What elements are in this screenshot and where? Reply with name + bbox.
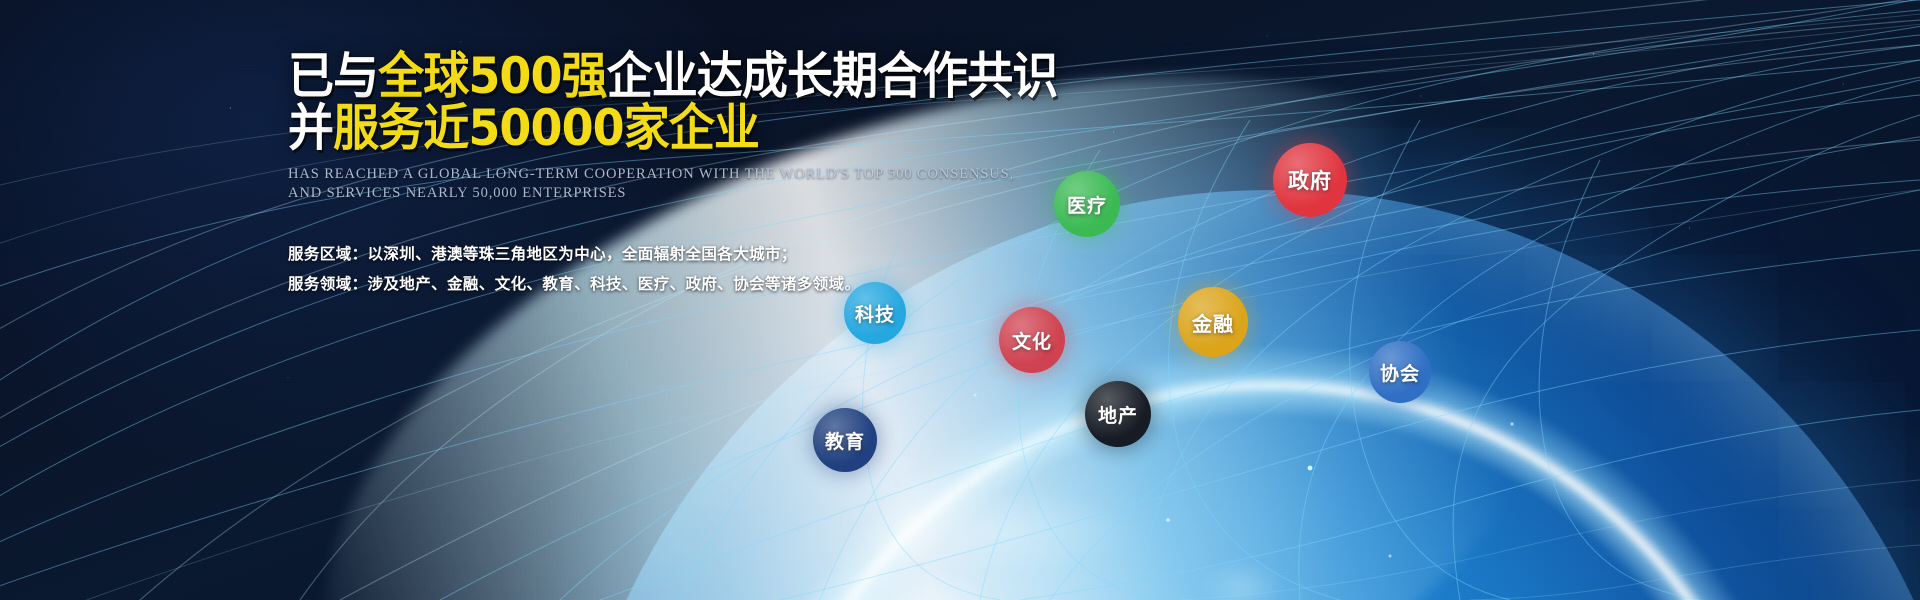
industry-bubble-label: 金融 [1192, 308, 1234, 337]
industry-bubble[interactable]: 科技 [844, 282, 906, 344]
english-line-2: AND SERVICES NEARLY 50,000 ENTERPRISES [288, 184, 1048, 203]
industry-bubble[interactable]: 教育 [813, 408, 877, 472]
industry-bubble-label: 医疗 [1067, 191, 1107, 218]
description-block: 服务区域：以深圳、港澳等珠三角地区为中心，全面辐射全国各大城市； 服务领域：涉及… [288, 239, 1048, 299]
description-line-service-fields: 服务领域：涉及地产、金融、文化、教育、科技、医疗、政府、协会等诸多领域。 [288, 269, 1048, 299]
industry-bubble[interactable]: 地产 [1085, 381, 1151, 447]
industry-bubble-label: 政府 [1288, 165, 1332, 195]
copy-block: 已与全球500强企业达成长期合作共识 并服务近50000家企业 HAS REAC… [288, 52, 1048, 299]
industry-bubble[interactable]: 协会 [1369, 341, 1431, 403]
industry-bubble-label: 文化 [1012, 327, 1052, 354]
headline-segment: 企业达成长期合作共识 [607, 47, 1058, 105]
industry-bubble[interactable]: 医疗 [1054, 171, 1120, 237]
english-subtitle: HAS REACHED A GLOBAL LONG-TERM COOPERATI… [288, 165, 1048, 203]
headline-line-2: 并服务近50000家企业 [288, 104, 987, 153]
headline-segment: 已与 [288, 47, 378, 105]
english-line-1: HAS REACHED A GLOBAL LONG-TERM COOPERATI… [288, 165, 1048, 184]
industry-bubble-label: 协会 [1380, 359, 1420, 386]
headline-segment: 并 [288, 99, 333, 157]
industry-bubble-label: 教育 [825, 427, 865, 454]
banner-stage: 已与全球500强企业达成长期合作共识 并服务近50000家企业 HAS REAC… [0, 0, 1920, 600]
headline-segment-highlight: 全球500强 [378, 47, 607, 105]
headline-line-1: 已与全球500强企业达成长期合作共识 [288, 52, 987, 101]
industry-bubble[interactable]: 文化 [999, 307, 1065, 373]
industry-bubble[interactable]: 政府 [1273, 143, 1347, 217]
industry-bubble-label: 地产 [1098, 401, 1138, 428]
industry-bubble-label: 科技 [855, 300, 895, 327]
industry-bubble[interactable]: 金融 [1178, 287, 1248, 357]
description-line-service-area: 服务区域：以深圳、港澳等珠三角地区为中心，全面辐射全国各大城市； [288, 239, 1048, 269]
headline-segment-highlight: 服务近50000家企业 [333, 99, 759, 157]
